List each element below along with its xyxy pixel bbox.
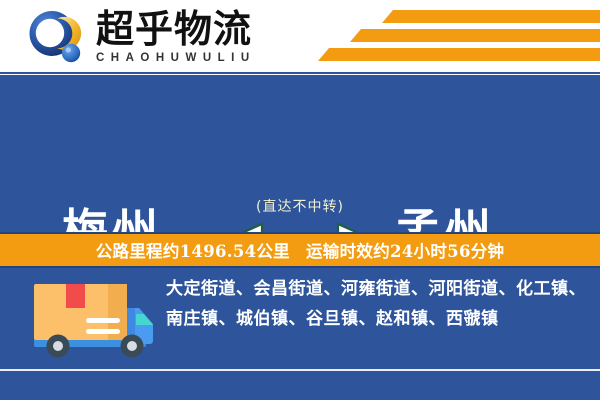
header-stripes-decoration <box>280 8 600 70</box>
brand-lockup: 超乎物流 CHAOHUWULIU <box>96 8 256 64</box>
delivery-truck-icon <box>22 276 162 368</box>
header-divider <box>0 72 600 74</box>
coverage-panel: 大定街道、会昌街道、河雍街道、河阳街道、化工镇、 南庄镇、城伯镇、谷旦镇、赵和镇… <box>0 268 600 400</box>
stripe-3 <box>318 48 600 61</box>
logistics-route-banner: 超乎物流 CHAOHUWULIU 梅州 (直达不中转) 【往返运输】 孟州 公路… <box>0 0 600 400</box>
route-panel: 梅州 (直达不中转) 【往返运输】 孟州 <box>0 75 600 232</box>
coverage-line-2: 南庄镇、城伯镇、谷旦镇、赵和镇、西虢镇 <box>166 304 586 334</box>
distance-label: 公路里程约1496.54公里 <box>96 238 290 262</box>
coverage-line-1: 大定街道、会昌街道、河雍街道、河阳街道、化工镇、 <box>166 274 586 304</box>
duration-label: 运输时效约24小时56分钟 <box>306 238 504 262</box>
coverage-area-list: 大定街道、会昌街道、河雍街道、河阳街道、化工镇、 南庄镇、城伯镇、谷旦镇、赵和镇… <box>166 274 586 334</box>
brand-name-en: CHAOHUWULIU <box>96 52 256 64</box>
stripe-1 <box>382 10 600 23</box>
direct-service-note: (直达不中转) <box>0 196 600 216</box>
stripe-2 <box>350 29 600 42</box>
banner-header: 超乎物流 CHAOHUWULIU <box>0 0 600 74</box>
brand-name-cn: 超乎物流 <box>96 8 256 50</box>
route-info-bar: 公路里程约1496.54公里 运输时效约24小时56分钟 <box>0 232 600 268</box>
circle-crescent-logo-icon <box>27 9 85 67</box>
coverage-divider <box>0 369 600 371</box>
